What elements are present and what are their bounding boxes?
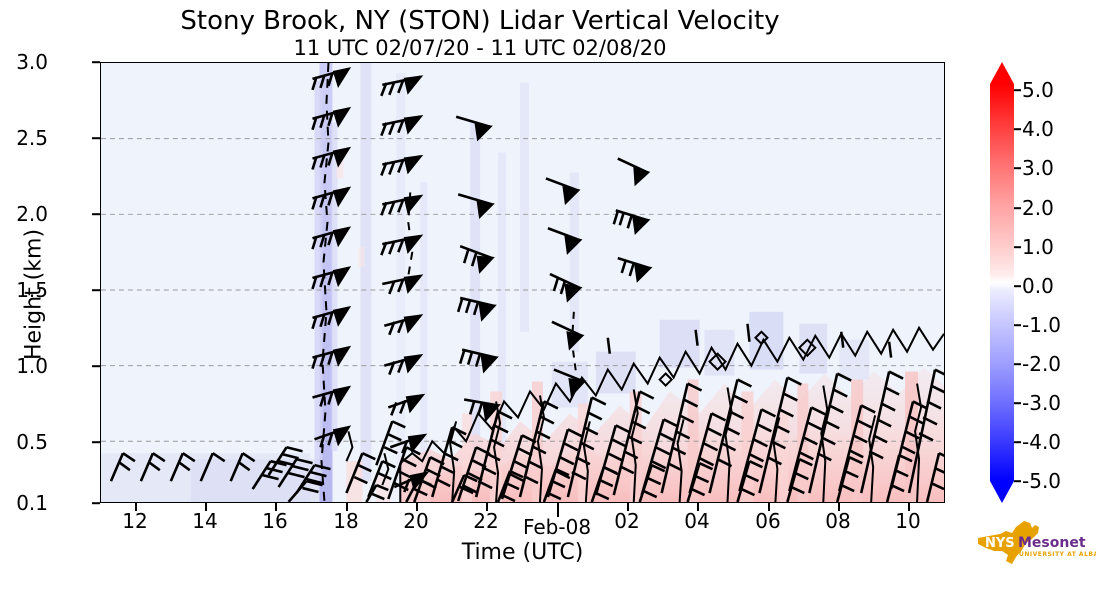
colorbar-gradient <box>990 84 1014 481</box>
xtick-mark <box>416 503 418 511</box>
ytick-label: 0.5 <box>16 430 48 454</box>
ytick-mark <box>92 365 100 367</box>
colorbar-tick-label: 1.0 <box>1022 235 1054 259</box>
xtick-label: 16 <box>262 509 287 533</box>
x-axis-label: Time (UTC) <box>100 540 945 565</box>
xtick-label: 12 <box>122 509 147 533</box>
ytick-mark <box>92 61 100 63</box>
logo-mesonet-text: Mesonet <box>1018 535 1086 551</box>
xtick-mark <box>557 503 559 517</box>
colorbar-tick-label: -4.0 <box>1022 430 1061 454</box>
logo-nys-text: NYS <box>985 536 1015 551</box>
ytick-label: 3.0 <box>16 50 48 74</box>
y-axis-label: Height (km) <box>22 185 47 405</box>
colorbar-tick-label: -3.0 <box>1022 391 1061 415</box>
xtick-label: 20 <box>403 509 428 533</box>
logo-tagline-text: UNIVERSITY AT ALBANY <box>1019 551 1096 558</box>
xtick-mark <box>838 503 840 511</box>
colorbar-tick-mark <box>1014 207 1021 209</box>
colorbar-tick-label: 3.0 <box>1022 156 1054 180</box>
ytick-mark <box>92 502 100 504</box>
colorbar-tick-mark <box>1014 167 1021 169</box>
colorbar-tick-mark <box>1014 324 1021 326</box>
colorbar-tick-label: -2.0 <box>1022 352 1061 376</box>
colorbar-tick-label: 4.0 <box>1022 117 1054 141</box>
colorbar-tick-label: 2.0 <box>1022 196 1054 220</box>
xtick-label: 08 <box>825 509 850 533</box>
nys-mesonet-logo: NYS Mesonet UNIVERSITY AT ALBANY <box>972 517 1096 573</box>
xtick-mark <box>135 503 137 511</box>
colorbar-tick-mark <box>1014 363 1021 365</box>
xtick-mark <box>275 503 277 511</box>
xtick-mark <box>908 503 910 511</box>
xtick-label: 22 <box>473 509 498 533</box>
colorbar-tick-mark <box>1014 402 1021 404</box>
colorbar-extend-min-arrow <box>990 481 1014 503</box>
colorbar-tick-mark <box>1014 480 1021 482</box>
xtick-mark <box>768 503 770 511</box>
ytick-mark <box>92 441 100 443</box>
colorbar-tick-mark <box>1014 246 1021 248</box>
ytick-label: 2.5 <box>16 126 48 150</box>
page-title: Stony Brook, NY (STON) Lidar Vertical Ve… <box>0 6 960 36</box>
xtick-mark <box>627 503 629 511</box>
xtick-label: 06 <box>755 509 780 533</box>
xtick-mark <box>486 503 488 511</box>
xtick-label: 18 <box>333 509 358 533</box>
xtick-mark <box>205 503 207 511</box>
colorbar: 5.0 4.0 3.0 2.0 1.0 0.0 -1.0 -2.0 -3.0 -… <box>990 62 1014 503</box>
page-subtitle: 11 UTC 02/07/20 - 11 UTC 02/08/20 <box>0 36 960 60</box>
ytick-label: 0.1 <box>16 491 48 515</box>
wind-barbs <box>101 63 944 502</box>
colorbar-tick-mark <box>1014 128 1021 130</box>
xtick-label: 14 <box>192 509 217 533</box>
colorbar-tick-mark <box>1014 441 1021 443</box>
plot-area <box>100 62 945 503</box>
xtick-label: Feb-08 <box>523 515 591 539</box>
xtick-mark <box>346 503 348 511</box>
ytick-mark <box>92 213 100 215</box>
xtick-mark <box>697 503 699 511</box>
xtick-label: 10 <box>895 509 920 533</box>
colorbar-tick-label: 0.0 <box>1022 274 1054 298</box>
colorbar-tick-label: -1.0 <box>1022 313 1061 337</box>
xtick-label: 02 <box>614 509 639 533</box>
ytick-mark <box>92 289 100 291</box>
colorbar-tick-mark <box>1014 285 1021 287</box>
colorbar-tick-mark <box>1014 89 1021 91</box>
ytick-mark <box>92 137 100 139</box>
colorbar-tick-label: 5.0 <box>1022 78 1054 102</box>
colorbar-tick-label: -5.0 <box>1022 469 1061 493</box>
colorbar-extend-max-arrow <box>990 62 1014 84</box>
xtick-label: 04 <box>684 509 709 533</box>
